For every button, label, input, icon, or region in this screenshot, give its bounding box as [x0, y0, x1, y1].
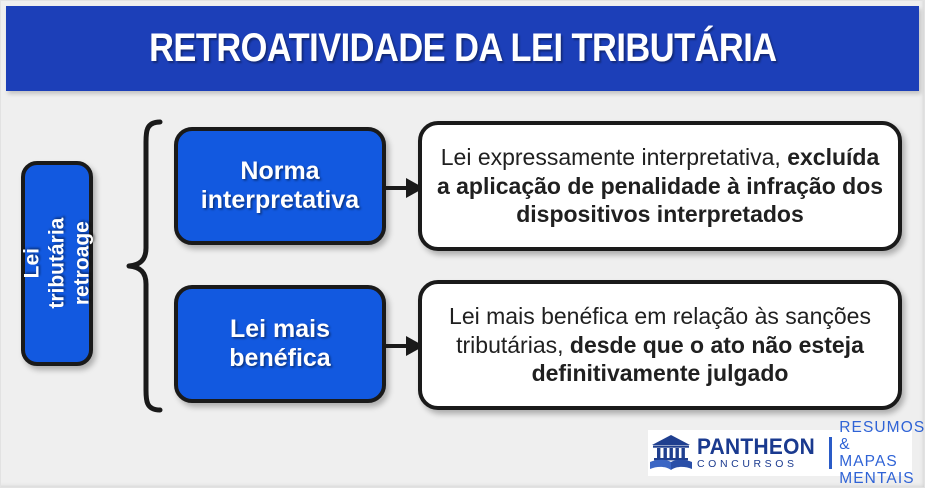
branch-label-text: Norma interpretativa [201, 157, 359, 216]
logo-tagline-line2: MAPAS MENTAIS [839, 453, 925, 487]
logo-brand-subtitle: CONCURSOS [697, 459, 821, 470]
logo-divider [829, 437, 832, 469]
curly-brace-connector [124, 118, 166, 414]
branch-label-text: Lei mais benéfica [229, 315, 330, 374]
mind-map-slide: RETROATIVIDADE DA LEI TRIBUTÁRIA Lei tri… [0, 0, 925, 488]
branch-label-norma-interpretativa[interactable]: Norma interpretativa [174, 127, 386, 245]
slide-header: RETROATIVIDADE DA LEI TRIBUTÁRIA [6, 6, 919, 91]
logo-tagline-block: RESUMOS & MAPAS MENTAIS [839, 419, 925, 487]
brand-logo: PANTHEON CONCURSOS RESUMOS & MAPAS MENTA… [648, 430, 912, 476]
logo-wordmark: PANTHEON CONCURSOS RESUMOS & MAPAS MENTA… [697, 419, 925, 487]
branch-label-lei-mais-benefica[interactable]: Lei mais benéfica [174, 285, 386, 403]
branch-description-text: Lei expressamente interpretativa, excluí… [432, 143, 888, 230]
branch-description-lei-mais-benefica: Lei mais benéfica em relação às sanções … [418, 280, 902, 410]
branch-description-text: Lei mais benéfica em relação às sanções … [432, 302, 888, 389]
logo-brand-block: PANTHEON CONCURSOS [697, 436, 821, 470]
curly-brace-icon [124, 118, 166, 414]
root-node-lei-tributaria-retroage[interactable]: Lei tributária retroage [21, 161, 93, 366]
logo-brand-name: PANTHEON [697, 436, 815, 458]
root-node-label: Lei tributária retroage [20, 218, 94, 309]
page-title: RETROATIVIDADE DA LEI TRIBUTÁRIA [149, 26, 777, 71]
pantheon-building-book-icon [648, 433, 694, 473]
description-lead: Lei expressamente interpretativa, [441, 144, 781, 170]
branch-description-norma-interpretativa: Lei expressamente interpretativa, excluí… [418, 121, 902, 251]
description-emphasis: desde que o ato não esteja definitivamen… [532, 332, 864, 387]
logo-tagline-line1: RESUMOS & [839, 419, 925, 453]
